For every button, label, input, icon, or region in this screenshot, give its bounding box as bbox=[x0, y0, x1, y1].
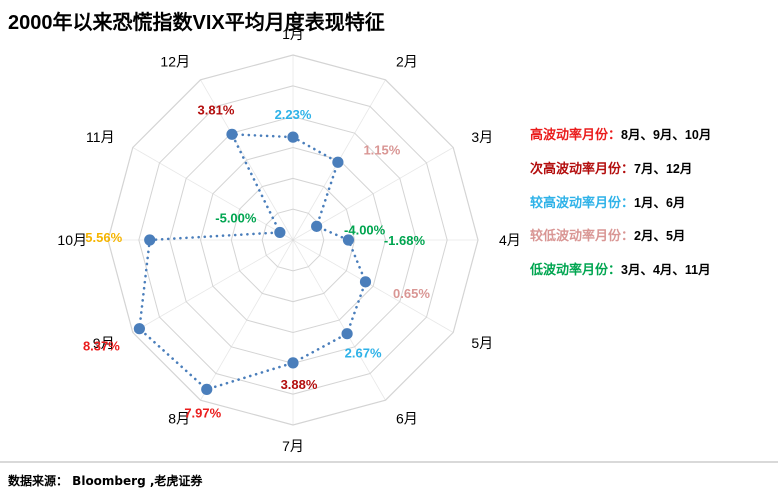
radar-spoke-11 bbox=[133, 148, 293, 241]
legend-category-label: 较高波动率月份： bbox=[530, 195, 634, 210]
legend-months-label: 3月、4月、11月 bbox=[621, 263, 711, 277]
axis-label-12月: 12月 bbox=[160, 54, 190, 70]
legend-months-label: 7月、12月 bbox=[634, 162, 692, 176]
legend-months-label: 1月、6月 bbox=[634, 196, 685, 210]
axis-label-4月: 4月 bbox=[499, 232, 520, 248]
axis-label-5月: 5月 bbox=[471, 335, 493, 351]
data-marker-3月 bbox=[311, 221, 322, 232]
axis-label-7月: 7月 bbox=[282, 438, 304, 454]
legend-months-label: 8月、9月、10月 bbox=[621, 128, 711, 142]
radar-spoke-9 bbox=[133, 240, 293, 333]
radar-chart-area: 1月2月3月4月5月6月7月8月9月10月11月12月 2.23%1.15%-4… bbox=[0, 30, 520, 455]
legend-high-vol: 高波动率月份：8月、9月、10月 bbox=[530, 128, 776, 143]
data-marker-9月 bbox=[134, 323, 145, 334]
legend-category-label: 低波动率月份： bbox=[530, 262, 621, 277]
legend-category-label: 高波动率月份： bbox=[530, 127, 621, 142]
axis-label-2月: 2月 bbox=[396, 54, 418, 70]
value-label-5月: 0.65% bbox=[393, 286, 430, 301]
value-label-10月: 5.56% bbox=[85, 230, 122, 245]
data-marker-12月 bbox=[226, 129, 237, 140]
legend-lower-vol: 较低波动率月份：2月、5月 bbox=[530, 229, 776, 244]
data-marker-1月 bbox=[287, 132, 298, 143]
legend-low-vol: 低波动率月份：3月、4月、11月 bbox=[530, 263, 776, 278]
axis-label-1月: 1月 bbox=[282, 30, 304, 42]
value-label-11月: -5.00% bbox=[215, 210, 257, 225]
data-marker-11月 bbox=[274, 227, 285, 238]
legend-higher-vol: 较高波动率月份：1月、6月 bbox=[530, 196, 776, 211]
axis-label-11月: 11月 bbox=[86, 129, 115, 145]
data-marker-6月 bbox=[342, 328, 353, 339]
data-marker-8月 bbox=[201, 384, 212, 395]
axis-label-3月: 3月 bbox=[471, 129, 493, 145]
value-label-1月: 2.23% bbox=[275, 107, 312, 122]
value-label-8月: 7.97% bbox=[184, 405, 221, 420]
legend-category-label: 较低波动率月份： bbox=[530, 228, 634, 243]
value-label-3月: -4.00% bbox=[344, 222, 386, 237]
legend-category-label: 次高波动率月份： bbox=[530, 161, 634, 176]
radar-spoke-8 bbox=[201, 240, 294, 400]
source-note: 数据来源： Bloomberg ,老虎证券 bbox=[8, 472, 202, 489]
radar-chart-svg: 1月2月3月4月5月6月7月8月9月10月11月12月 2.23%1.15%-4… bbox=[0, 30, 520, 455]
value-label-4月: -1.68% bbox=[384, 233, 426, 248]
value-label-7月: 3.88% bbox=[281, 377, 318, 392]
value-label-12月: 3.81% bbox=[198, 102, 235, 117]
footer-divider bbox=[0, 461, 778, 463]
axis-label-6月: 6月 bbox=[396, 410, 418, 426]
value-label-9月: 8.37% bbox=[83, 339, 120, 354]
data-marker-5月 bbox=[360, 276, 371, 287]
legend: 高波动率月份：8月、9月、10月次高波动率月份：7月、12月较高波动率月份：1月… bbox=[530, 128, 776, 297]
data-marker-10月 bbox=[144, 234, 155, 245]
axis-label-10月: 10月 bbox=[57, 232, 87, 248]
value-label-6月: 2.67% bbox=[345, 346, 382, 361]
legend-second-high-vol: 次高波动率月份：7月、12月 bbox=[530, 162, 776, 177]
value-label-2月: 1.15% bbox=[363, 142, 400, 157]
data-marker-7月 bbox=[287, 357, 298, 368]
legend-months-label: 2月、5月 bbox=[634, 229, 685, 243]
data-marker-2月 bbox=[332, 157, 343, 168]
